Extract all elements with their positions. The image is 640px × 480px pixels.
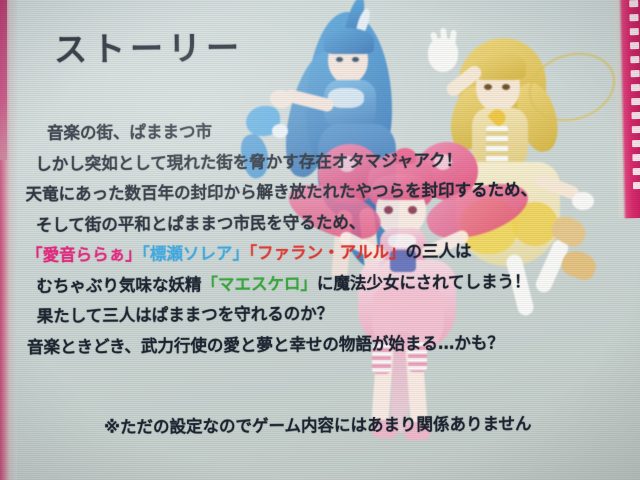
story-footnote: ※ただの設定なのでゲーム内容にはあまり関係ありません — [104, 410, 532, 438]
story-body: 音楽の街、ぱままつ市しかし突如として現れた街を脅かす存在オタマジャアク！天竜にあ… — [25, 113, 623, 363]
left-page-edge-shadow — [0, 0, 7, 160]
story-text: 果たして三人はぱままつを守れるのか？ — [37, 304, 334, 326]
page-title: ストーリー — [54, 21, 244, 71]
character-name-pink: 「愛音ららぁ」 — [26, 245, 142, 265]
story-text: むちゃぶり気味な妖精 — [36, 275, 201, 296]
photographed-booklet-page: ストーリー 音楽の街、ぱままつ市しかし突如として現れた街を脅かす存在オタマジャア… — [0, 0, 640, 480]
character-name-red: 「ファラン・アルル」 — [249, 242, 406, 263]
character-name-green: 「マエスケロ」 — [201, 274, 317, 294]
character-name-cyan: 「標瀬ソレア」 — [142, 244, 249, 264]
story-text: 音楽ときどき、武力行使の愛と夢と幸せの物語が始まる…かも？ — [27, 333, 504, 357]
story-text: の三人は — [405, 242, 471, 262]
story-text: に魔法少女にされてしまう！ — [317, 272, 531, 293]
story-text: しかし突如として現れた街を脅かす存在オタマジャアク！ — [35, 150, 462, 173]
story-text: 音楽の街、ぱままつ市 — [47, 122, 212, 143]
story-text: そして街の平和とぱままつ市民を守るため、 — [36, 212, 366, 234]
story-line: 音楽ときどき、武力行使の愛と夢と幸せの物語が始まる…かも？ — [27, 327, 623, 363]
story-text: 天竜にあった数百年の封印から解き放たれたやつらを封印するため、 — [25, 180, 537, 204]
